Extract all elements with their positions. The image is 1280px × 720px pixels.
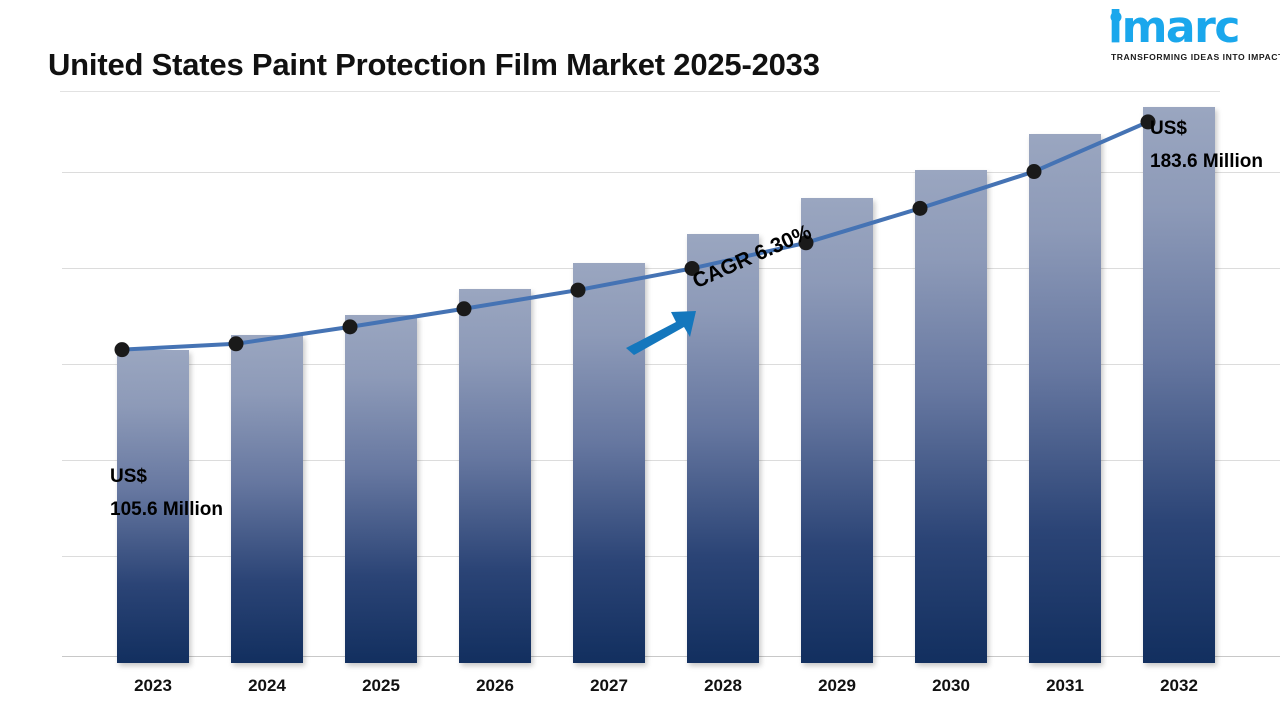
- bar-2027: [573, 263, 645, 663]
- bar-2024: [231, 335, 303, 663]
- end-value-amount: 183.6 Million: [1150, 145, 1263, 178]
- bar-2030: [915, 170, 987, 663]
- bar-2031: [1029, 134, 1101, 663]
- start-value-label: US$ 105.6 Million: [110, 460, 223, 526]
- x-axis-label-2023: 2023: [103, 676, 203, 696]
- x-axis-label-2027: 2027: [559, 676, 659, 696]
- x-axis-label-2030: 2030: [901, 676, 1001, 696]
- x-axis-label-2025: 2025: [331, 676, 431, 696]
- end-value-label: US$ 183.6 Million: [1150, 112, 1263, 178]
- bar-2028: [687, 234, 759, 663]
- x-axis-label-2029: 2029: [787, 676, 887, 696]
- end-value-currency: US$: [1150, 112, 1263, 145]
- bar-2032: [1143, 107, 1215, 663]
- chart-plot-area: 2023202420252026202720282029203020312032…: [0, 0, 1280, 720]
- start-value-amount: 105.6 Million: [110, 493, 223, 526]
- start-value-currency: US$: [110, 460, 223, 493]
- bar-2029: [801, 198, 873, 663]
- bar-2026: [459, 289, 531, 663]
- chart-page: United States Paint Protection Film Mark…: [0, 0, 1280, 720]
- x-axis-label-2024: 2024: [217, 676, 317, 696]
- bar-2025: [345, 315, 417, 663]
- x-axis-label-2026: 2026: [445, 676, 545, 696]
- x-axis-label-2032: 2032: [1129, 676, 1229, 696]
- x-axis-label-2028: 2028: [673, 676, 773, 696]
- x-axis-label-2031: 2031: [1015, 676, 1115, 696]
